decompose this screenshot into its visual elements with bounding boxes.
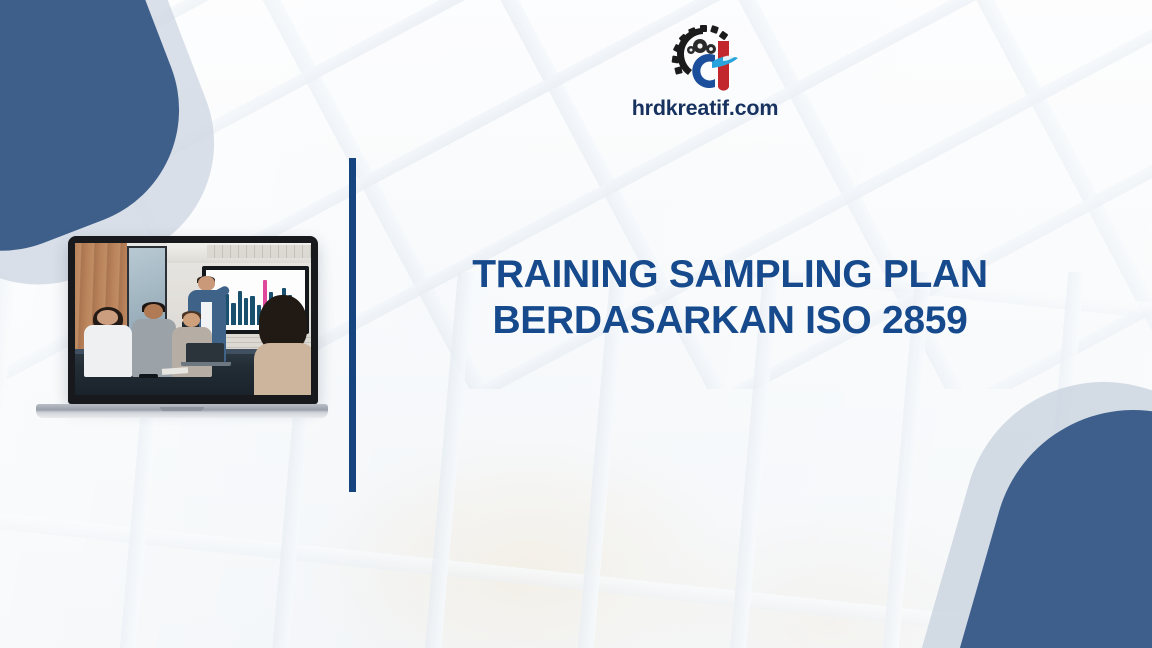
ceiling-tiles (207, 245, 311, 259)
bar-6 (244, 298, 248, 325)
attendee-1 (84, 310, 131, 377)
laptop-notch (160, 407, 204, 411)
bar-4 (231, 303, 235, 326)
table-laptop-base (181, 362, 231, 367)
title-line-1: TRAINING SAMPLING PLAN (380, 252, 1080, 298)
table-document (162, 367, 188, 375)
gear-monogram-icon (666, 24, 744, 96)
page-title: TRAINING SAMPLING PLAN BERDASARKAN ISO 2… (380, 252, 1080, 344)
attendee-2-head (144, 304, 164, 319)
brand-logo: hrdkreatif.com (597, 24, 813, 120)
attendee-4-body (254, 343, 311, 395)
title-line-2: BERDASARKAN ISO 2859 (380, 298, 1080, 344)
meeting-room-photo (75, 243, 311, 395)
attendee-2 (132, 304, 177, 377)
attendee-4-foreground (254, 295, 311, 395)
table-phone (139, 374, 158, 379)
laptop-lid (68, 236, 318, 404)
table-laptop (186, 343, 224, 363)
bar-5 (238, 291, 242, 326)
laptop-screen (75, 243, 311, 395)
laptop-illustration (36, 236, 328, 418)
attendee-1-head (97, 310, 119, 325)
laptop-base (36, 404, 328, 418)
attendee-1-body (84, 325, 131, 377)
banner-canvas: hrdkreatif.com TRAINING SAMPLING PLAN BE… (0, 0, 1152, 648)
vertical-accent-bar (349, 158, 356, 492)
presenter-head (198, 276, 215, 290)
attendee-3-head (183, 313, 200, 327)
brand-name: hrdkreatif.com (597, 98, 813, 120)
